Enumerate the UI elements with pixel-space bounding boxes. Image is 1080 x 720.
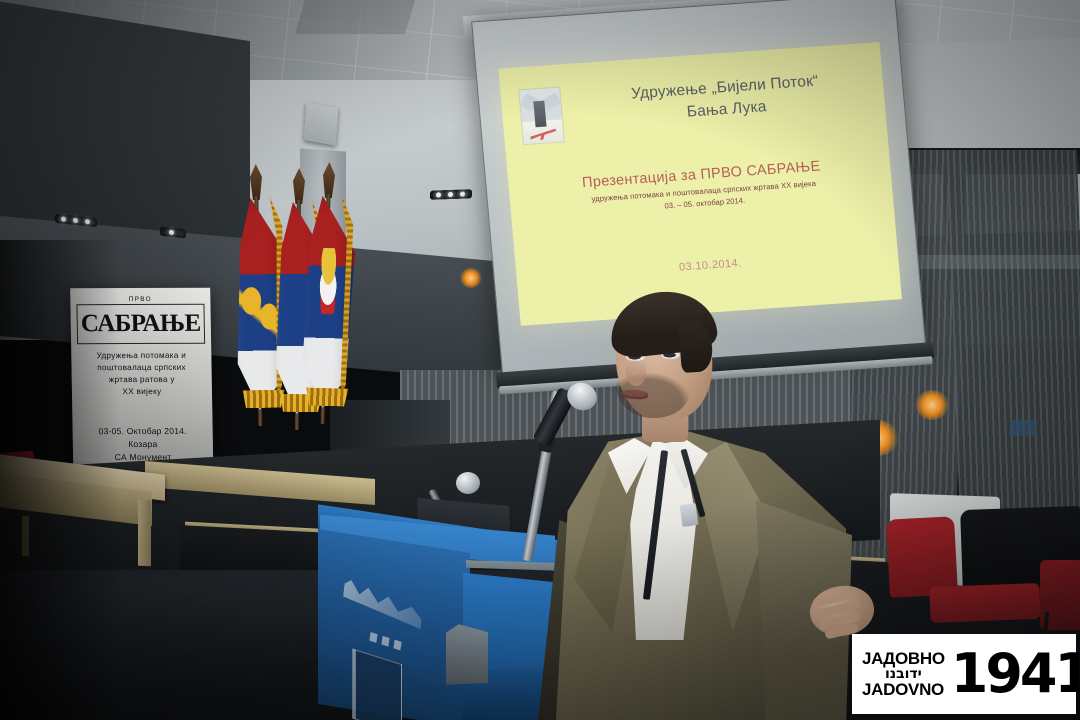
table-leg-right: [138, 500, 151, 566]
flag-tricolor-arms: [293, 165, 362, 417]
flag-fringe-bottom: [301, 387, 351, 406]
wall-speaker-icon: [304, 102, 339, 145]
ceiling-light-right: [430, 189, 472, 199]
conference-hall-photo: Удружење „Бијели Поток“ Бања Лука Презен…: [0, 0, 1080, 720]
presentation-slide: Удружење „Бијели Поток“ Бања Лука Презен…: [498, 42, 902, 326]
flag-spear-finial-icon: [322, 162, 335, 198]
lectern-vent-panel: [446, 623, 488, 689]
presenter-nose: [626, 360, 646, 386]
slide-title: Удружење „Бијели Поток“ Бања Лука: [574, 67, 877, 132]
flag-spear-finial-icon: [250, 164, 263, 200]
lamp-glow-upper: [915, 390, 949, 420]
watermark-logo: JAДОВНО ידובנו JADOVNO 1941.: [852, 634, 1076, 714]
window-reflection: [1010, 420, 1036, 436]
watermark-line-cyrillic: JAДОВНО: [862, 650, 945, 667]
watermark-line-latin: JADOVNO: [862, 681, 945, 698]
presenter-badge: [680, 503, 699, 527]
slide-date: 03.10.2014.: [534, 247, 886, 284]
presenter: [560, 290, 840, 720]
lectern-grille: [352, 648, 402, 720]
watermark-text-block: JAДОВНО ידובנו JADOVNO: [862, 650, 945, 699]
slide-monument-logo-icon: [518, 86, 565, 145]
lamp-glow-behind-screen: [460, 268, 482, 288]
secondary-microphone-head-icon: [456, 472, 480, 494]
watermark-line-hebrew: ידובנו: [862, 667, 945, 681]
watermark-year: 1941.: [951, 650, 1080, 699]
table-leg-left: [22, 516, 29, 556]
lectern-left-face: [318, 529, 470, 720]
